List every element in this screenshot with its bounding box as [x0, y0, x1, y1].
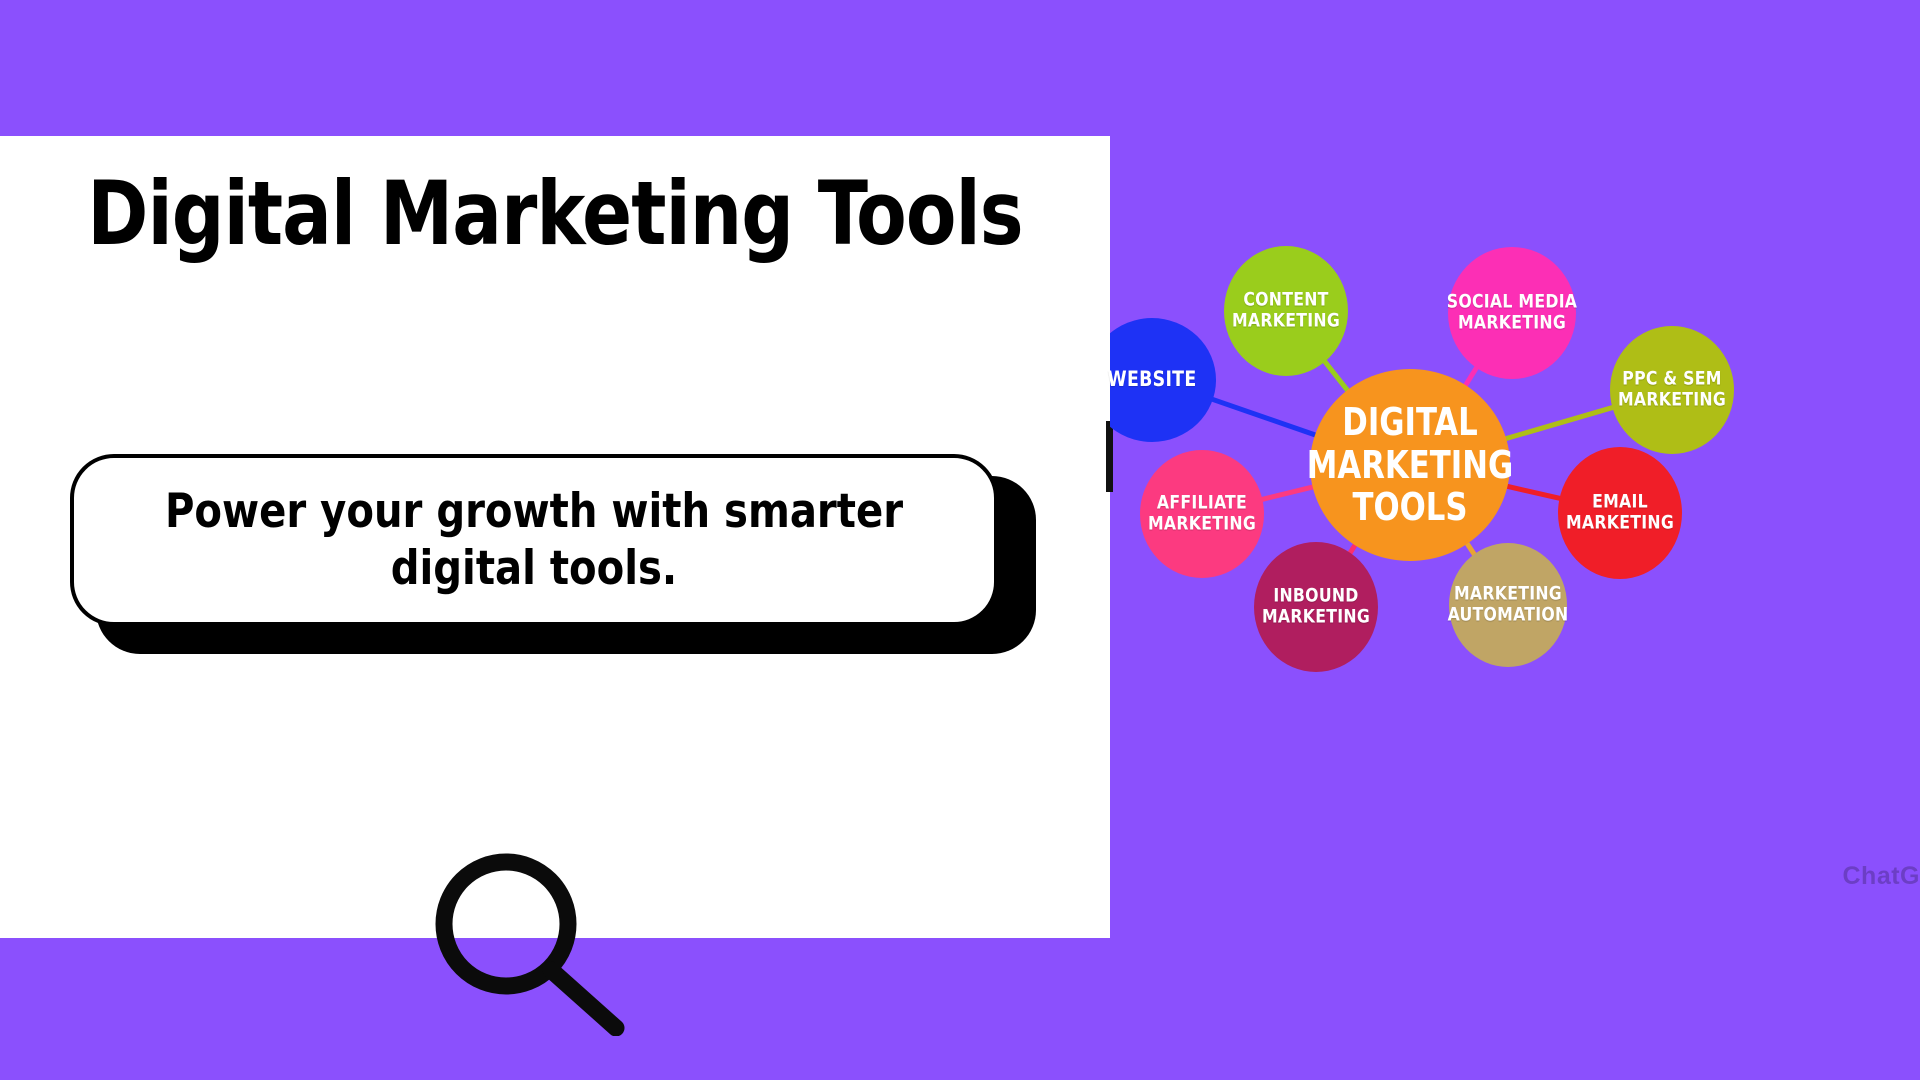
- node-inbound-marketing[interactable]: [1254, 542, 1378, 672]
- left-content-panel: Digital Marketing Tools Power your growt…: [0, 136, 1110, 938]
- node-ppc-sem-marketing[interactable]: [1610, 326, 1734, 454]
- node-social-media-marketing[interactable]: [1448, 247, 1576, 379]
- node-marketing-automation[interactable]: [1449, 543, 1567, 667]
- node-center[interactable]: [1310, 369, 1510, 561]
- slide-canvas: Digital Marketing Tools Power your growt…: [0, 0, 1920, 1080]
- watermark-text: ChatG: [1843, 862, 1920, 891]
- connector-email-marketing: [1505, 486, 1562, 499]
- connector-affiliate-marketing: [1261, 486, 1316, 499]
- mindmap-nodes: [1110, 246, 1734, 672]
- mindmap-diagram: WEBSITECONTENT MARKETINGSOCIAL MEDIA MAR…: [1110, 0, 1920, 1080]
- node-affiliate-marketing[interactable]: [1140, 450, 1264, 578]
- connector-ppc-sem-marketing: [1503, 407, 1614, 439]
- node-content-marketing[interactable]: [1224, 246, 1348, 376]
- connector-website: [1211, 399, 1318, 436]
- search-input-container[interactable]: Power your growth with smarter digital t…: [70, 454, 998, 626]
- connector-social-media-marketing: [1464, 366, 1477, 388]
- node-email-marketing[interactable]: [1558, 447, 1682, 579]
- connector-content-marketing: [1324, 360, 1349, 392]
- search-icon[interactable]: [420, 846, 630, 1036]
- search-input[interactable]: Power your growth with smarter digital t…: [97, 483, 971, 598]
- page-title: Digital Marketing Tools: [39, 164, 1071, 264]
- node-website[interactable]: [1110, 318, 1216, 442]
- search-bar[interactable]: Power your growth with smarter digital t…: [70, 454, 1030, 654]
